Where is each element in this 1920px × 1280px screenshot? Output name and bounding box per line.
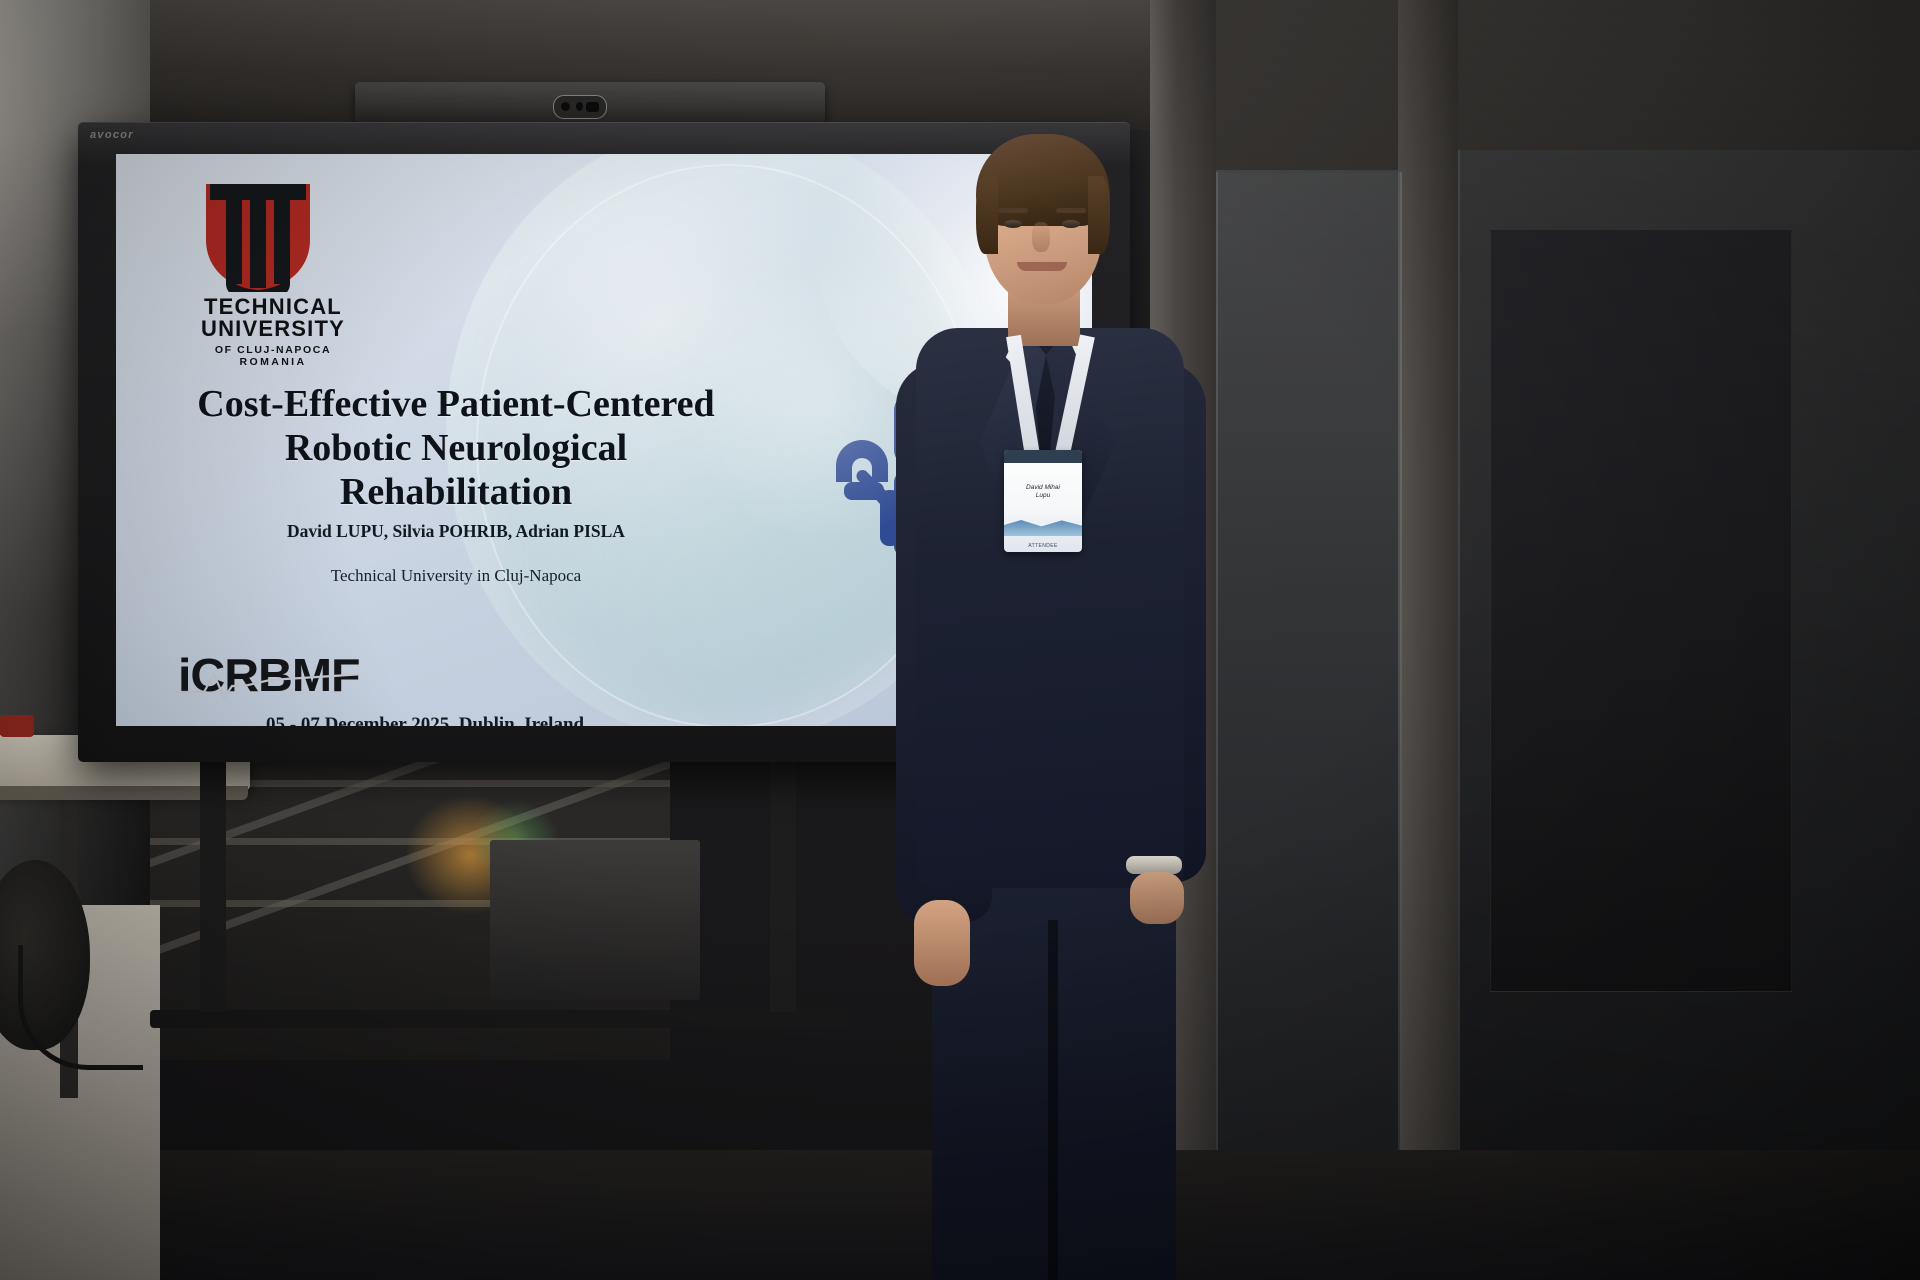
tucn-logo-line3: OF CLUJ-NAPOCA [178,344,368,356]
icrbmf-ecg-line [174,668,364,704]
presenter-mouth [1017,262,1067,271]
presenter-hair-side-left [976,176,998,254]
presenter-eye-right [1062,220,1080,228]
presenter-hair-side-right [1088,176,1110,254]
badge-name-line1: David Mihai [1004,484,1082,492]
display-stand-leg-left [200,762,226,1012]
dark-doorway [1490,230,1792,992]
slide-affiliation: Technical University in Cluj-Napoca [216,566,696,586]
photo-scene: avocor [0,0,1920,1280]
tucn-logo-line1: TECHNICAL [178,296,368,318]
presenter: David Mihai Lupu ATTENDEE [880,130,1280,1280]
tucn-logo: TECHNICAL UNIVERSITY OF CLUJ-NAPOCA ROMA… [178,182,368,368]
slide-authors: David LUPU, Silvia POHRIB, Adrian PISLA [236,522,676,540]
presenter-leg-seam [1048,920,1058,1280]
red-object [0,715,34,737]
camera-module [553,95,607,119]
badge-name: David Mihai Lupu [1004,484,1082,500]
tucn-logo-line2: UNIVERSITY [178,318,368,340]
presenter-brow-left [998,208,1028,213]
wall-pillar-right [1398,0,1458,1280]
presenter-brow-right [1056,208,1086,213]
display-brand-label: avocor [90,129,134,141]
slide-date-location: 05 - 07 December 2025, Dublin, Ireland [266,714,826,726]
badge-footer-text: ATTENDEE [1004,543,1082,549]
presenter-nose [1032,222,1050,252]
conference-name-badge: David Mihai Lupu ATTENDEE [1004,450,1082,552]
tucn-shield-icon [196,182,320,292]
presenter-left-hand [914,900,970,986]
slide-title-line-3: Rehabilitation [156,470,756,514]
slide-title-line-1: Cost-Effective Patient-Centered [156,382,756,426]
icrbmf-logo: iCRBMF [178,652,418,708]
slide-title: Cost-Effective Patient-Centered Robotic … [156,382,756,514]
slide-title-line-2: Robotic Neurological [156,426,756,470]
display-stand-leg-right [770,762,796,1012]
display-stand-base [150,1010,850,1028]
presenter-eye-left [1004,220,1022,228]
tucn-logo-line4: ROMANIA [178,356,368,368]
media-player-box [490,840,700,1000]
badge-header-bar [1004,450,1082,463]
badge-name-line2: Lupu [1004,492,1082,500]
presenter-right-hand [1130,872,1184,924]
badge-wave-graphic [1004,516,1082,536]
